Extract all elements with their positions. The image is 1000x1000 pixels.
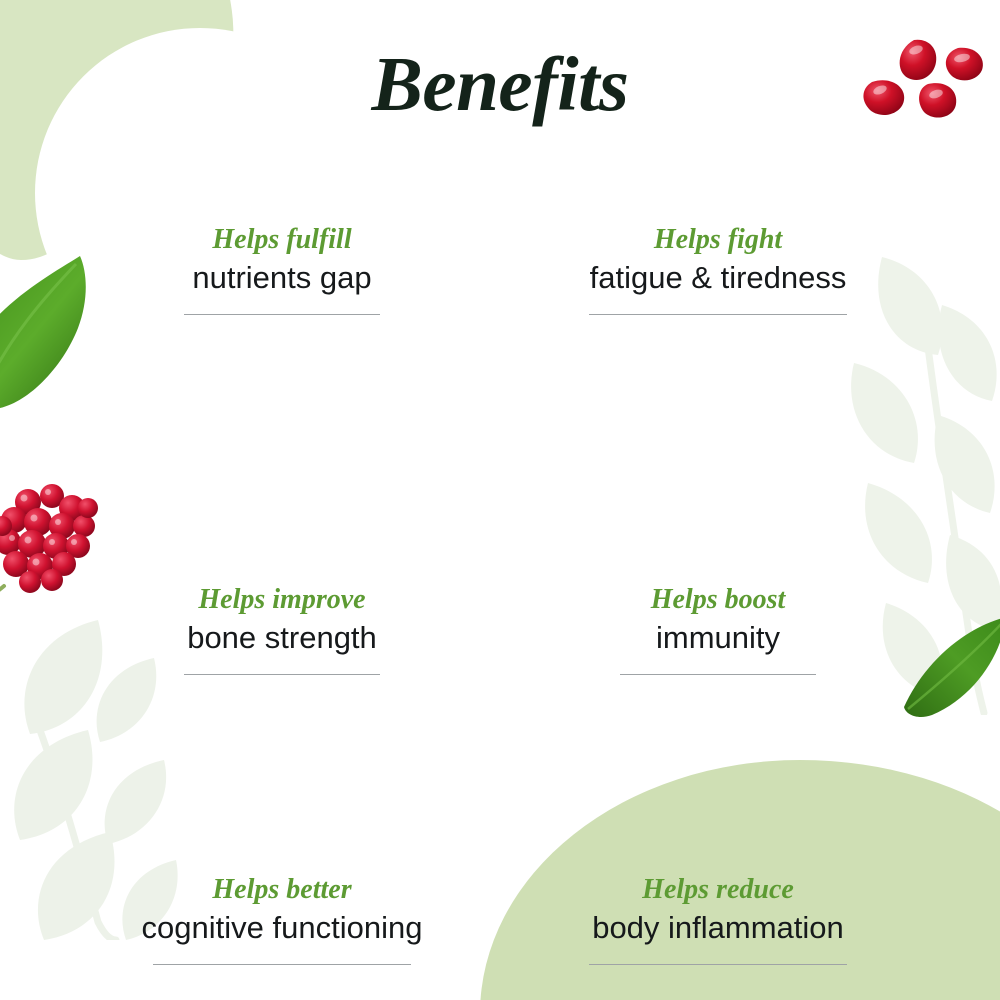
benefit-divider: [153, 964, 411, 965]
benefit-main: cognitive functioning: [142, 908, 423, 948]
benefit-main: nutrients gap: [192, 258, 371, 298]
benefit-main: fatigue & tiredness: [590, 258, 847, 298]
benefits-grid: Helps fulfill nutrients gap Helps fight …: [64, 205, 936, 965]
benefits-infographic: Benefits Helps fulfill nutrients gap Hel…: [0, 0, 1000, 1000]
benefit-divider: [184, 314, 380, 315]
benefit-lead: Helps fight: [654, 223, 782, 256]
benefit-item-fatigue-tiredness: Helps fight fatigue & tiredness: [500, 205, 936, 495]
benefit-divider: [589, 964, 847, 965]
benefit-main: bone strength: [187, 618, 377, 658]
benefit-divider: [589, 314, 847, 315]
benefit-item-bone-strength: Helps improve bone strength: [64, 495, 500, 785]
page-title: Benefits: [0, 44, 1000, 125]
benefit-item-cognitive-functioning: Helps better cognitive functioning: [64, 785, 500, 965]
benefit-item-body-inflammation: Helps reduce body inflammation: [500, 785, 936, 965]
benefit-lead: Helps better: [212, 873, 351, 906]
benefit-main: immunity: [656, 618, 780, 658]
benefit-divider: [620, 674, 816, 675]
benefit-divider: [184, 674, 380, 675]
benefit-lead: Helps improve: [198, 583, 365, 616]
benefit-lead: Helps boost: [651, 583, 786, 616]
benefit-item-immunity: Helps boost immunity: [500, 495, 936, 785]
benefit-main: body inflammation: [592, 908, 844, 948]
benefit-lead: Helps reduce: [642, 873, 794, 906]
content-layer: Benefits Helps fulfill nutrients gap Hel…: [0, 0, 1000, 1000]
benefit-item-nutrients-gap: Helps fulfill nutrients gap: [64, 205, 500, 495]
benefit-lead: Helps fulfill: [212, 223, 351, 256]
